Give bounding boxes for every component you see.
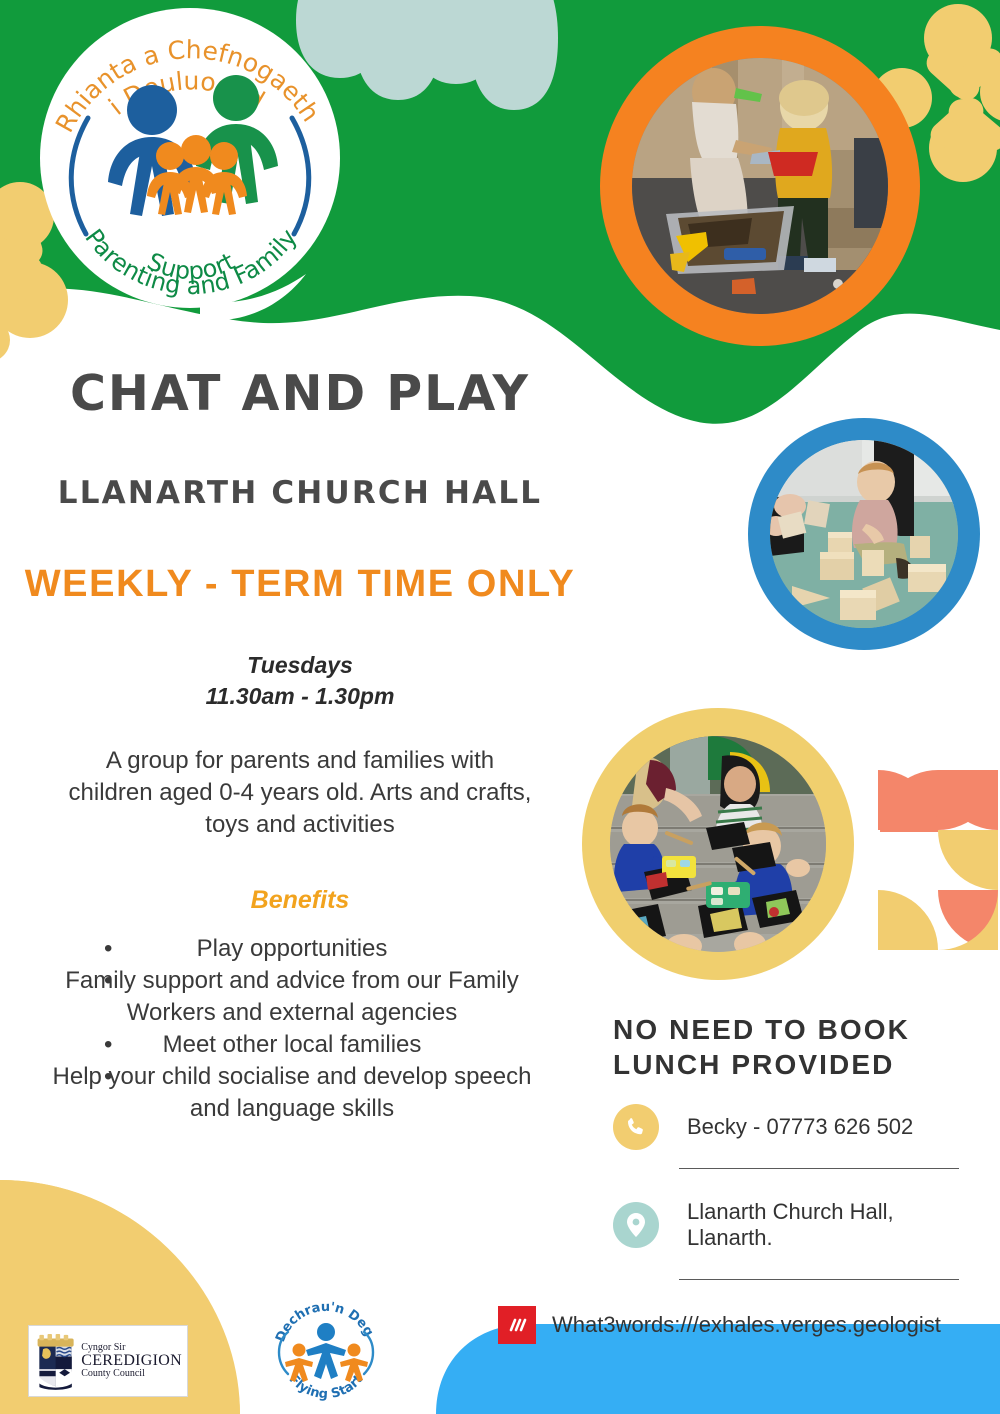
list-item: • Meet other local families xyxy=(52,1029,532,1061)
location-pin-icon xyxy=(613,1202,659,1248)
benefits-list: • Play opportunities • Family support an… xyxy=(52,933,532,1124)
poster-canvas: Rhianta a Chefnogaeth i Deuluoedd Parent… xyxy=(0,0,1000,1414)
parenting-family-support-logo: Rhianta a Chefnogaeth i Deuluoedd Parent… xyxy=(30,6,350,326)
address-text: Llanarth Church Hall, Llanarth. xyxy=(687,1199,973,1251)
venue-heading: LLANARTH CHURCH HALL xyxy=(0,475,600,511)
schedule-day: Tuesdays xyxy=(0,650,600,680)
flying-start-logo: Dechrau'n Deg Flying Start xyxy=(268,1296,384,1406)
photo-wooden-blocks xyxy=(748,418,980,650)
benefit-text: Help your child socialise and develop sp… xyxy=(53,1063,532,1122)
bullet-icon: • xyxy=(104,1061,112,1093)
list-item: • Family support and advice from our Fam… xyxy=(52,965,532,1029)
council-line-3: County Council xyxy=(81,1369,182,1379)
svg-text:Flying Start: Flying Start xyxy=(286,1372,367,1402)
phone-row[interactable]: Becky - 07773 626 502 xyxy=(613,1104,973,1150)
ceredigion-county-council-logo: Cyngor Sir CEREDIGION County Council xyxy=(28,1325,188,1397)
booking-note: NO NEED TO BOOK LUNCH PROVIDED xyxy=(613,1012,973,1082)
description-text: A group for parents and families with ch… xyxy=(65,745,535,840)
frequency-heading: WEEKLY - TERM TIME ONLY xyxy=(0,563,600,606)
list-item: • Play opportunities xyxy=(52,933,532,965)
page-title: CHAT AND PLAY xyxy=(0,368,600,419)
phone-text: Becky - 07773 626 502 xyxy=(687,1114,913,1140)
bullet-icon: • xyxy=(104,965,112,997)
benefit-text: Meet other local families xyxy=(163,1031,422,1058)
contact-column: NO NEED TO BOOK LUNCH PROVIDED Becky - 0… xyxy=(613,1012,973,1344)
what3words-row[interactable]: What3words:///exhales.verges.geologist xyxy=(498,1306,973,1344)
benefit-text: Family support and advice from our Famil… xyxy=(65,967,519,1026)
schedule-block: Tuesdays 11.30am - 1.30pm xyxy=(0,650,600,711)
council-line-2: CEREDIGION xyxy=(81,1353,182,1369)
quote-mark-decoration xyxy=(878,770,998,950)
bullet-icon: • xyxy=(104,933,112,965)
address-row[interactable]: Llanarth Church Hall, Llanarth. xyxy=(613,1199,973,1251)
bullet-icon: • xyxy=(104,1029,112,1061)
booking-line-1: NO NEED TO BOOK xyxy=(613,1012,973,1047)
main-text-column: CHAT AND PLAY LLANARTH CHURCH HALL WEEKL… xyxy=(0,368,600,1125)
council-logo-text: Cyngor Sir CEREDIGION County Council xyxy=(81,1343,182,1380)
what3words-icon xyxy=(498,1306,536,1344)
what3words-text: What3words:///exhales.verges.geologist xyxy=(552,1312,941,1338)
benefits-heading: Benefits xyxy=(0,886,600,915)
photo-arts-crafts xyxy=(582,708,854,980)
booking-line-2: LUNCH PROVIDED xyxy=(613,1047,973,1082)
flying-start-english: Flying Start xyxy=(286,1372,367,1402)
photo-messy-play xyxy=(600,26,920,346)
list-item: • Help your child socialise and develop … xyxy=(52,1061,532,1125)
divider-2 xyxy=(679,1279,959,1280)
phone-icon xyxy=(613,1104,659,1150)
ceredigion-crest-icon xyxy=(34,1330,77,1392)
schedule-time: 11.30am - 1.30pm xyxy=(0,681,600,711)
divider-1 xyxy=(679,1168,959,1169)
benefit-text: Play opportunities xyxy=(197,935,388,962)
